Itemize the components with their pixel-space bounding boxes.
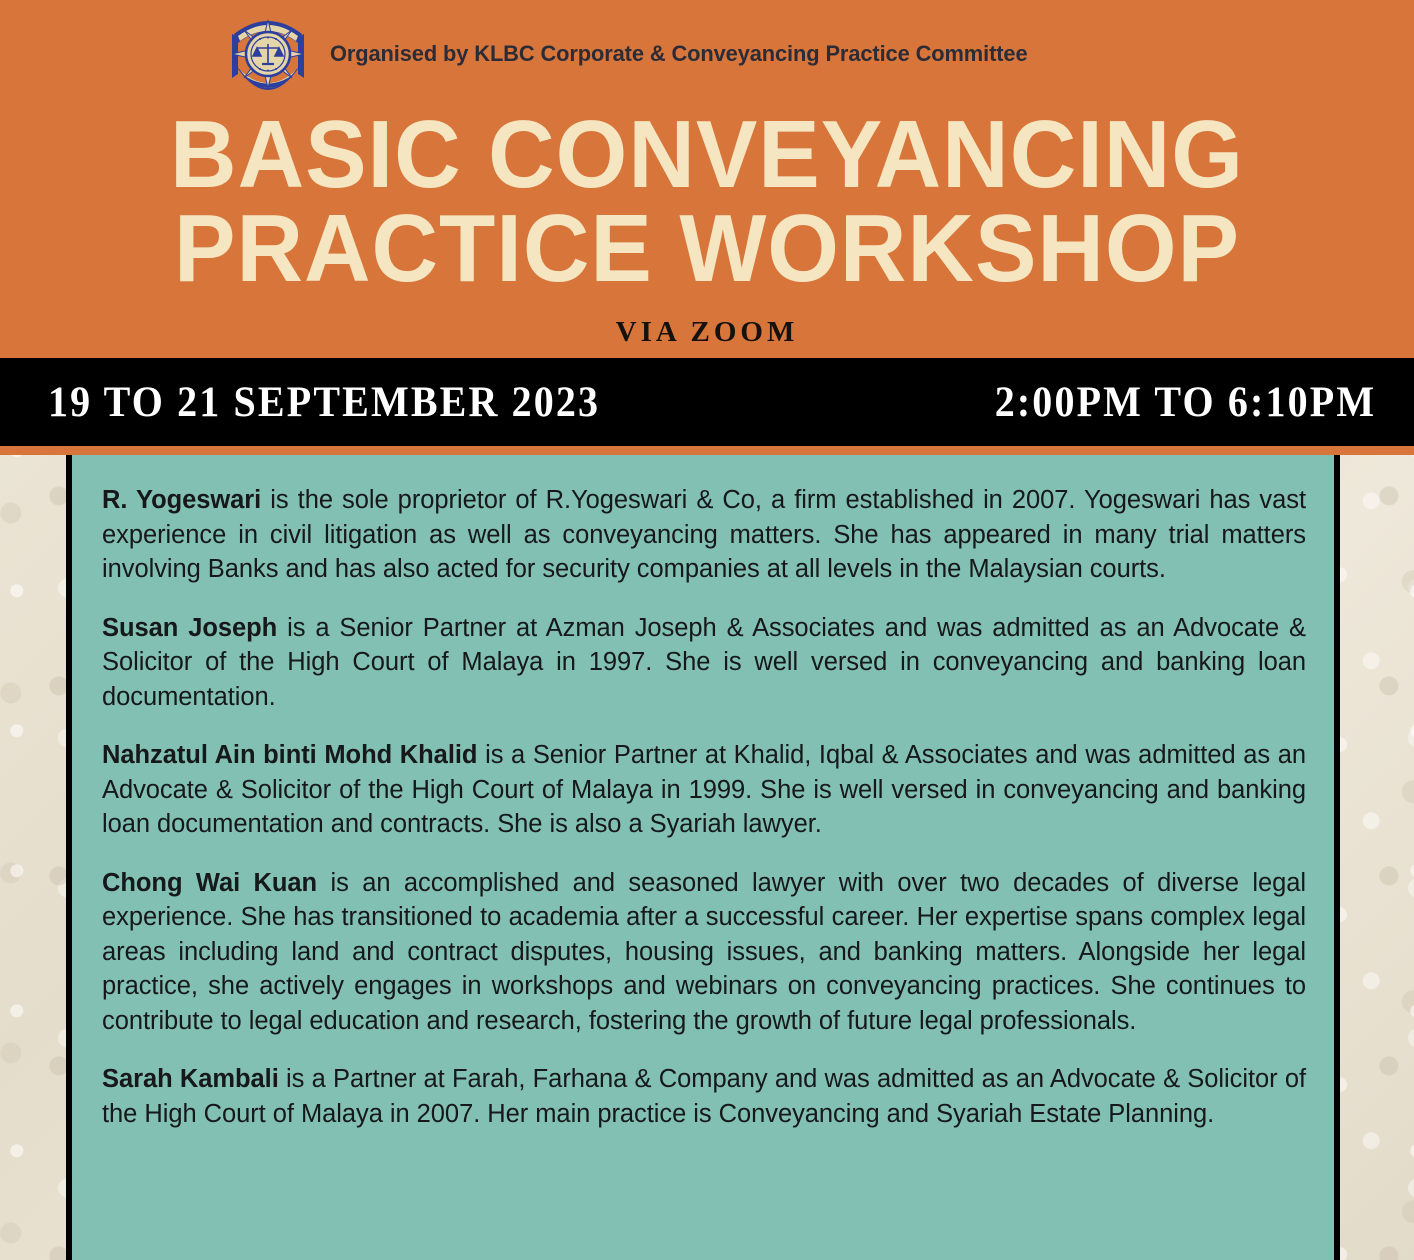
speaker-name: R. Yogeswari [102, 486, 261, 514]
title-line-2: PRACTICE WORKSHOP [28, 202, 1385, 296]
title-line-1: BASIC CONVEYANCING [28, 108, 1385, 202]
klbc-bar-logo-icon [220, 4, 316, 104]
speaker-bio-item: Nahzatul Ain binti Mohd Khalid is a Seni… [102, 738, 1306, 842]
date-time-bar: 19 TO 21 SEPTEMBER 2023 2:00PM TO 6:10PM [0, 358, 1414, 446]
poster-title: BASIC CONVEYANCING PRACTICE WORKSHOP [0, 108, 1414, 296]
organiser-row: Organised by KLBC Corporate & Conveyanci… [220, 4, 1049, 104]
delivery-mode-subtitle: VIA ZOOM [0, 316, 1414, 349]
speaker-name: Chong Wai Kuan [102, 869, 317, 897]
speaker-name: Susan Joseph [102, 614, 277, 642]
speaker-bio-text: is a Senior Partner at Azman Joseph & As… [102, 614, 1306, 711]
speaker-bios-panel: R. Yogeswari is the sole proprietor of R… [66, 455, 1340, 1260]
speaker-bio-item: R. Yogeswari is the sole proprietor of R… [102, 483, 1306, 587]
poster-header: Organised by KLBC Corporate & Conveyanci… [0, 0, 1414, 358]
speaker-bio-text: is the sole proprietor of R.Yogeswari & … [102, 486, 1306, 583]
speaker-bios-list: R. Yogeswari is the sole proprietor of R… [72, 455, 1334, 1131]
event-dates: 19 TO 21 SEPTEMBER 2023 [48, 378, 600, 427]
organiser-label: Organised by KLBC Corporate & Conveyanci… [330, 41, 1028, 67]
speaker-bio-text: is a Partner at Farah, Farhana & Company… [102, 1065, 1306, 1128]
speaker-bio-item: Susan Joseph is a Senior Partner at Azma… [102, 611, 1306, 715]
event-times: 2:00PM TO 6:10PM [994, 378, 1376, 427]
speaker-bio-item: Chong Wai Kuan is an accomplished and se… [102, 866, 1306, 1039]
orange-divider-strip [0, 446, 1414, 455]
speaker-bio-item: Sarah Kambali is a Partner at Farah, Far… [102, 1062, 1306, 1131]
speaker-name: Nahzatul Ain binti Mohd Khalid [102, 741, 477, 769]
speaker-name: Sarah Kambali [102, 1065, 279, 1093]
